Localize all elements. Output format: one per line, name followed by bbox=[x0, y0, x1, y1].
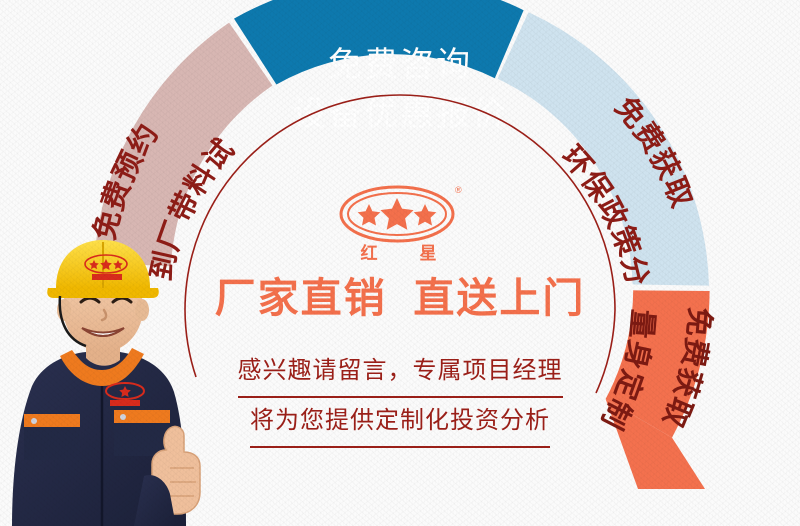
segment-free-consult-line1: 免费咨询 bbox=[328, 46, 472, 84]
inner-ring-line-lower-right bbox=[596, 310, 615, 393]
segment-free-consult[interactable]: 免费咨询 设备优惠报价 bbox=[234, 0, 524, 133]
worker-illustration-icon bbox=[0, 236, 214, 526]
banner-root: 免费预约 到厂带料试机 免费咨询 设备优惠报价 免费获取 环保政策分析 bbox=[0, 0, 800, 526]
segment-free-policy-analysis-wedge bbox=[498, 12, 710, 285]
worker-photo bbox=[0, 236, 214, 526]
segment-free-consult-line2: 设备优惠报价 bbox=[292, 95, 508, 133]
